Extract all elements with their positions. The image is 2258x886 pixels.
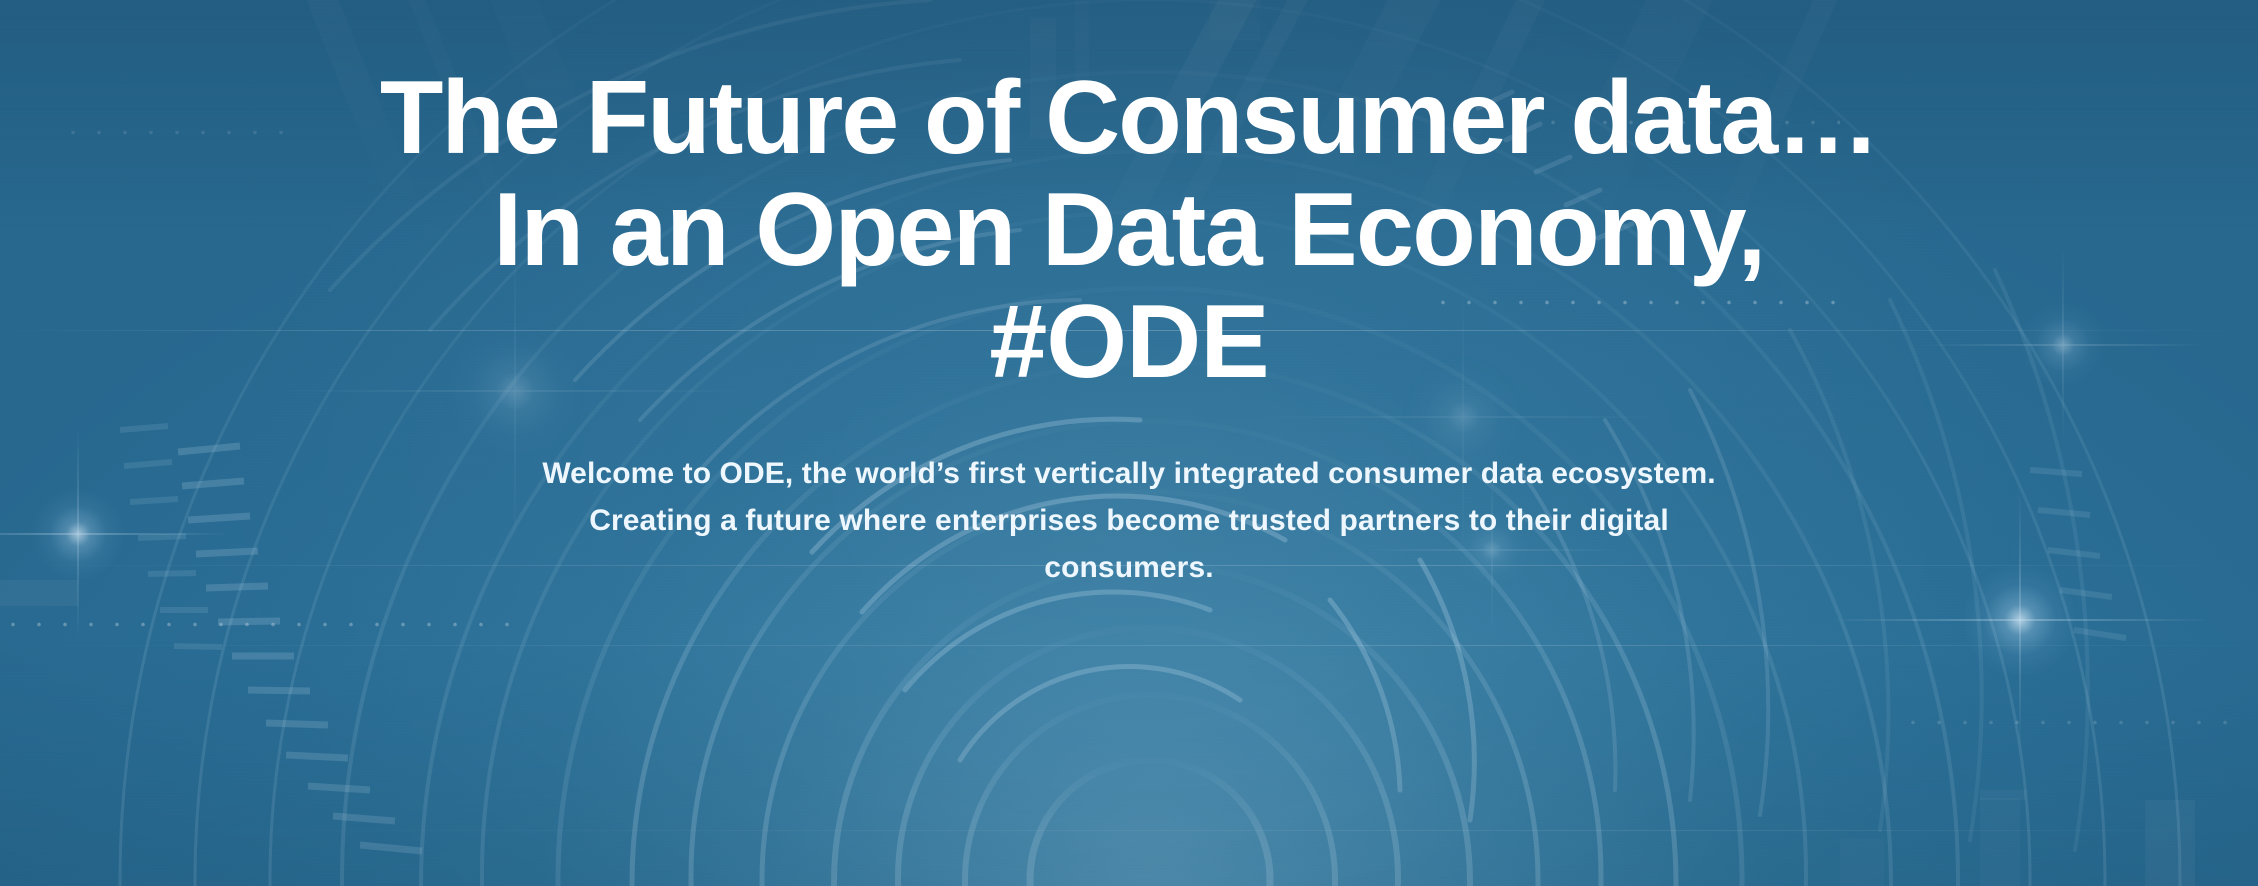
- hero-subtitle: Welcome to ODE, the world’s first vertic…: [542, 450, 1715, 591]
- hero-title-line-1: The Future of Consumer data…: [0, 62, 2258, 174]
- hero-subtitle-line-3: consumers.: [542, 544, 1715, 591]
- hero-subtitle-line-2: Creating a future where enterprises beco…: [542, 497, 1715, 544]
- hero-title-line-2: In an Open Data Economy,: [0, 174, 2258, 286]
- hero-title: The Future of Consumer data… In an Open …: [0, 62, 2258, 398]
- hero-subtitle-line-1: Welcome to ODE, the world’s first vertic…: [542, 450, 1715, 497]
- hero-content: The Future of Consumer data… In an Open …: [0, 0, 2258, 886]
- hero-title-line-3: #ODE: [0, 286, 2258, 398]
- hero-banner: The Future of Consumer data… In an Open …: [0, 0, 2258, 886]
